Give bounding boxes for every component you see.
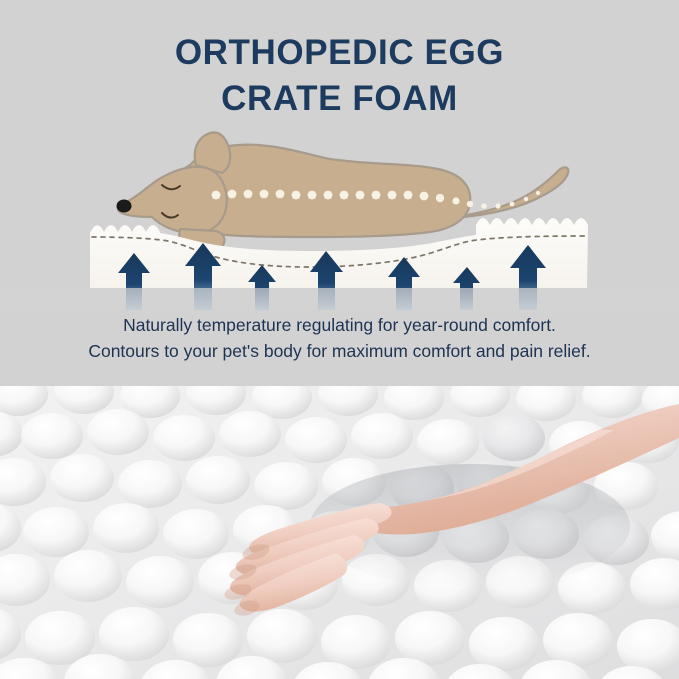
page-title: ORTHOPEDIC EGG CRATE FOAM	[0, 30, 679, 122]
product-infographic: ORTHOPEDIC EGG CRATE FOAM	[0, 0, 679, 679]
page-title-line-2: CRATE FOAM	[0, 76, 679, 122]
egg-crate-foam-photo	[0, 386, 679, 679]
benefits-text: Naturally temperature regulating for yea…	[0, 312, 679, 364]
arrow-fade-overlay	[0, 288, 679, 310]
foam-photo-panel	[0, 386, 679, 679]
benefit-line-2: Contours to your pet's body for maximum …	[0, 338, 679, 364]
benefit-line-1: Naturally temperature regulating for yea…	[0, 312, 679, 338]
dog-on-foam-illustration	[0, 125, 679, 310]
dog-nose	[117, 200, 132, 213]
page-title-line-1: ORTHOPEDIC EGG	[0, 30, 679, 76]
top-illustration-panel: ORTHOPEDIC EGG CRATE FOAM	[0, 0, 679, 386]
